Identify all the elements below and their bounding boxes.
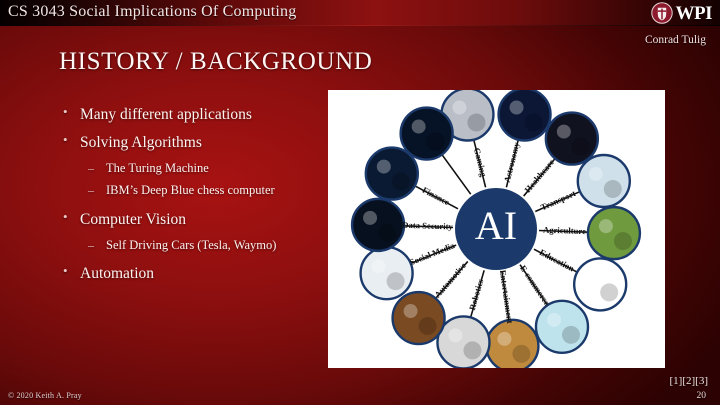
spoke-label-entertainment: Entertainment (498, 269, 515, 324)
list-item: Self Driving Cars (Tesla, Waymo) (58, 239, 328, 253)
spoke-label-transport: Transport (539, 188, 577, 212)
footer-copyright: © 2020 Keith A. Pray (8, 391, 82, 400)
spoke-label-robotics: Robotics (467, 277, 486, 311)
spoke-label-data-security: Data Security (402, 220, 453, 232)
list-item: Solving Algorithms (58, 134, 328, 151)
spoke-thumbnail (546, 113, 598, 165)
spoke-label-agriculture: Agriculture (543, 225, 586, 236)
wpi-logo: WPI (651, 1, 713, 25)
spoke-thumbnail (574, 258, 626, 310)
list-item: The Turing Machine (58, 162, 328, 176)
ai-applications-figure: GamingAstronomyHealthcareTransportAgricu… (328, 90, 665, 368)
spoke-thumbnail (352, 199, 404, 251)
spoke-thumbnail (536, 301, 588, 353)
ai-center-label: AI (475, 203, 517, 248)
spoke-label-healthcare: Healthcare (522, 157, 556, 195)
spoke-label-astronomy: Astronomy (502, 141, 522, 184)
spoke-thumbnail (393, 292, 445, 344)
slide-number: 20 (697, 391, 707, 401)
spoke-thumbnail (578, 155, 630, 207)
spoke-thumbnail (499, 90, 551, 141)
spoke-thumbnail (361, 247, 413, 299)
list-item: Computer Vision (58, 211, 328, 228)
spoke-label-social-media: Social Media (408, 240, 456, 267)
wpi-crest-icon (651, 2, 673, 24)
spoke-thumbnail (401, 108, 453, 160)
spoke-label-finance: Finance (421, 185, 452, 208)
spoke-thumbnail (366, 148, 418, 200)
ai-radial-diagram: GamingAstronomyHealthcareTransportAgricu… (328, 90, 665, 368)
spoke-thumbnail (437, 316, 489, 368)
footer-citations: [1][2][3] (670, 375, 708, 387)
spoke-connector (442, 155, 471, 195)
spoke-thumbnail (486, 320, 538, 368)
page-title: HISTORY / BACKGROUND (59, 48, 372, 76)
bullet-list: Many different applications Solving Algo… (58, 106, 328, 293)
spoke-label-automotive: Automotive (432, 260, 468, 299)
spoke-label-e-commerce: E-commerce (518, 263, 552, 307)
course-title: CS 3043 Social Implications Of Computing (8, 3, 296, 21)
presentation-slide: CS 3043 Social Implications Of Computing… (0, 0, 720, 405)
author-name: Conrad Tulig (645, 34, 706, 46)
list-item: Many different applications (58, 106, 328, 123)
slide-header-bar: CS 3043 Social Implications Of Computing… (0, 0, 720, 26)
list-item: IBM’s Deep Blue chess computer (58, 184, 328, 198)
spoke-label-gaming: Gaming (472, 147, 489, 179)
wpi-logo-text: WPI (676, 4, 713, 23)
spoke-label-education: Education (538, 247, 576, 274)
spoke-thumbnail (588, 207, 640, 259)
list-item: Automation (58, 265, 328, 282)
